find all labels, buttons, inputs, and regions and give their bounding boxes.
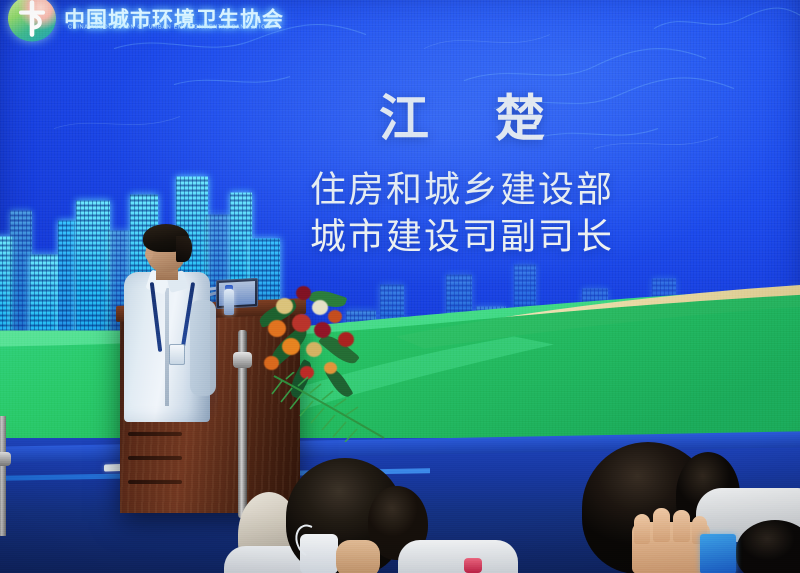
- audience-ponytail-neck: [336, 540, 380, 573]
- speaker-name-title: 江 楚: [262, 93, 662, 146]
- small-pink-object: [464, 558, 482, 573]
- audience-finger: [653, 508, 670, 542]
- audience-ponytail-shoulders: [398, 540, 518, 573]
- lectern-slat: [128, 456, 182, 460]
- speaker-arm: [190, 300, 216, 396]
- stand-pole-foreground: [0, 416, 6, 536]
- phone-screen: [700, 534, 736, 573]
- palm-frond: [268, 372, 388, 442]
- lectern-slat: [128, 480, 182, 484]
- emblem-glyph-icon: [8, 0, 56, 42]
- speaker-badge: [169, 344, 185, 365]
- screen-headline-block: 江 楚 住房和城乡建设部 城市建设司副司长: [262, 93, 662, 259]
- water-bottle: [224, 289, 234, 315]
- speaker-org-line: 住房和城乡建设部: [262, 167, 662, 211]
- screenshot-root: 中国城市环境卫生协会 CHINA ASSOCIATION OF URBAN EN…: [0, 0, 800, 573]
- stand-pole-knob-foreground: [0, 452, 11, 466]
- lectern-slat: [128, 432, 182, 436]
- association-emblem-icon: [8, 0, 56, 42]
- audience-finger: [673, 510, 690, 542]
- speaker-hair-side: [176, 236, 192, 262]
- screen-logo: 中国城市环境卫生协会: [8, 0, 284, 42]
- stand-pole-knob: [233, 352, 252, 368]
- speaker-role-line: 城市建设司副司长: [262, 215, 662, 259]
- association-name-english: CHINA ASSOCIATION OF URBAN ENVIRONMENTAL…: [68, 25, 271, 31]
- audience-finger: [634, 514, 650, 544]
